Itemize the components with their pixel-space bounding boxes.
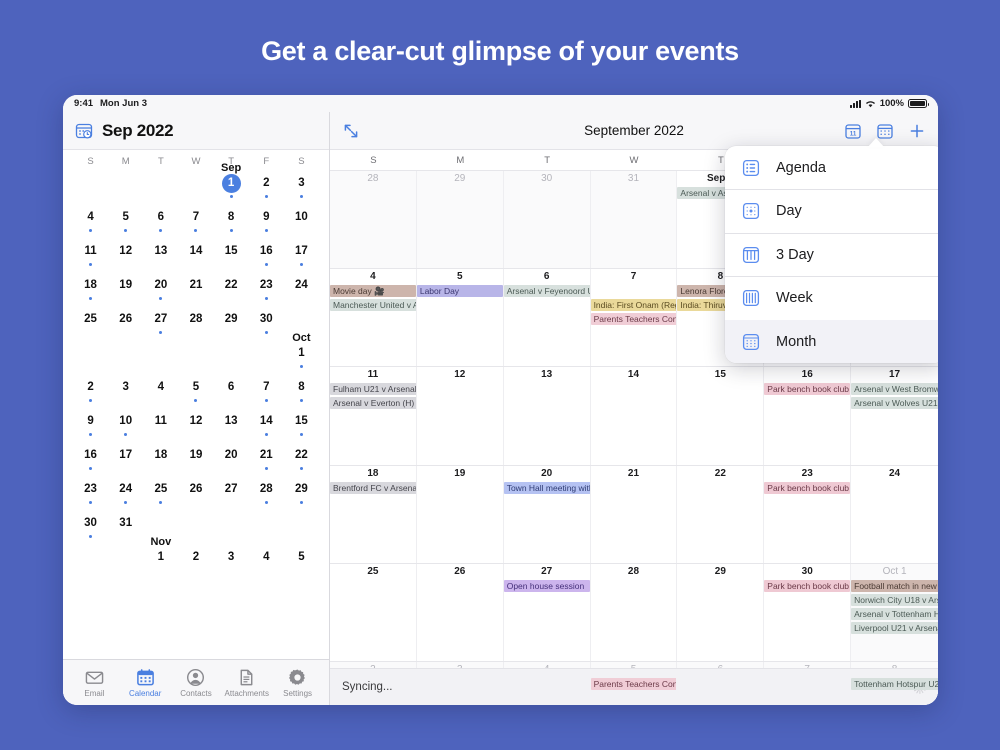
calendar-event[interactable]: Open house session — [504, 580, 590, 592]
mini-cal-day-23[interactable]: 23 — [249, 275, 284, 309]
dropdown-item-label: 3 Day — [776, 247, 814, 263]
tab-label: Attachments — [225, 689, 269, 698]
mini-cal-day-number: 30 — [81, 514, 100, 533]
month-day-cell-24[interactable]: 24 — [851, 466, 938, 563]
mini-cal-day-number: 4 — [151, 378, 170, 397]
mini-cal-day-26[interactable]: 26 — [108, 309, 143, 343]
mini-cal-day-number: 25 — [151, 480, 170, 499]
mini-cal-day-11[interactable]: 11 — [143, 411, 178, 445]
event-spacer — [591, 285, 677, 297]
month-day-cell-19[interactable]: 19 — [417, 466, 504, 563]
mini-cal-day-27[interactable]: 27 — [214, 479, 249, 513]
month-day-cell-15[interactable]: 15 — [677, 367, 764, 464]
event-dot-icon — [265, 229, 268, 232]
mini-cal-day-28[interactable]: 28 — [178, 309, 213, 343]
mini-cal-day-number: 15 — [222, 242, 241, 261]
mini-cal-empty-cell — [108, 173, 143, 207]
event-dot-icon — [230, 229, 233, 232]
month-dow-2: T — [504, 155, 591, 166]
month-week-row: 18Brentford FC v Arsenal (A)1920Town Hal… — [330, 465, 938, 563]
mini-cal-day-number: 12 — [116, 242, 135, 261]
envelope-icon — [85, 668, 104, 687]
month-day-cell-30[interactable]: 30 — [504, 171, 591, 268]
mini-cal-day-21[interactable]: 21 — [249, 445, 284, 479]
mini-cal-day-3[interactable]: 3 — [108, 377, 143, 411]
month-day-cell-11[interactable]: 11Fulham U21 v Arsenal U21 (A)Arsenal v … — [330, 367, 417, 464]
month-day-number: 29 — [677, 566, 763, 578]
day-view-icon — [742, 202, 760, 220]
month-day-cell-21[interactable]: 21 — [591, 466, 678, 563]
week-view-icon — [742, 289, 760, 307]
mini-cal-empty-cell — [214, 343, 249, 377]
mini-dow-3: W — [178, 156, 213, 167]
mini-cal-day-number: 5 — [116, 208, 135, 227]
month-day-number: 7 — [591, 271, 677, 283]
month-day-number: 27 — [504, 566, 590, 578]
month-day-number: Oct 1 — [851, 566, 938, 578]
tablet-device-frame: 9:41 Mon Jun 3 100% — [63, 95, 938, 705]
mini-cal-day-29[interactable]: 29 — [214, 309, 249, 343]
mini-cal-day-13[interactable]: 13 — [143, 241, 178, 275]
mini-cal-day-number: 11 — [151, 412, 170, 431]
tab-calendar[interactable]: Calendar — [120, 668, 171, 698]
calendar-event[interactable]: Park bench book club — [764, 580, 850, 592]
dropdown-item-agenda[interactable]: Agenda — [725, 146, 938, 189]
event-dot-icon — [89, 399, 92, 402]
event-dot-icon — [300, 365, 303, 368]
mini-cal-day-3[interactable]: 3 — [214, 547, 249, 581]
mini-cal-empty-cell — [143, 343, 178, 377]
mini-cal-day-10[interactable]: 10 — [284, 207, 319, 241]
mini-cal-empty-cell — [73, 173, 108, 207]
calendar-event[interactable]: Arsenal v Tottenham Hotspur (H) — [851, 608, 938, 620]
mini-cal-day-11[interactable]: 11 — [73, 241, 108, 275]
mini-cal-day-14[interactable]: 14 — [249, 411, 284, 445]
mini-cal-day-27[interactable]: 27 — [143, 309, 178, 343]
mini-cal-empty-cell — [284, 513, 319, 547]
mini-cal-day-2[interactable]: 2 — [178, 547, 213, 581]
month-day-number: 23 — [764, 468, 850, 480]
event-dot-icon — [265, 467, 268, 470]
month-day-cell-27[interactable]: 27Open house session — [504, 564, 591, 661]
mini-cal-day-number: 20 — [222, 446, 241, 465]
mini-cal-day-number: 21 — [257, 446, 276, 465]
mini-cal-day-30[interactable]: 30 — [249, 309, 284, 343]
month-day-cell-26[interactable]: 26 — [417, 564, 504, 661]
tab-label: Calendar — [129, 689, 161, 698]
mini-cal-day-24[interactable]: 24 — [108, 479, 143, 513]
tab-settings[interactable]: Settings — [272, 668, 323, 698]
mini-cal-day-17[interactable]: 17 — [108, 445, 143, 479]
month-view-icon — [742, 333, 760, 351]
month-day-cell-25[interactable]: 25 — [330, 564, 417, 661]
dropdown-item-label: Week — [776, 290, 813, 306]
sidebar: Sep 2022 SMTWTFS Sep12345678910111213141… — [63, 112, 330, 705]
month-day-cell-20[interactable]: 20Town Hall meeting with leadership — [504, 466, 591, 563]
event-dot-icon — [194, 399, 197, 402]
mini-cal-day-3[interactable]: 3 — [284, 173, 319, 207]
event-dot-icon — [300, 433, 303, 436]
battery-percent: 100% — [880, 98, 904, 109]
tab-contacts[interactable]: Contacts — [171, 668, 222, 698]
mini-cal-day-number: 22 — [222, 276, 241, 295]
mini-cal-day-number: 1 — [292, 344, 311, 363]
event-dot-icon — [89, 297, 92, 300]
three-day-view-icon — [742, 246, 760, 264]
calendar-event[interactable]: Tottenham Hotspur U21 v Arsenal U21 (A) — [851, 678, 938, 690]
mini-cal-day-number: 28 — [186, 310, 205, 329]
month-day-number: 28 — [330, 173, 416, 185]
mini-cal-empty-cell — [249, 343, 284, 377]
mini-cal-day-number: 8 — [292, 378, 311, 397]
month-week-row: 11Fulham U21 v Arsenal U21 (A)Arsenal v … — [330, 366, 938, 464]
mini-cal-day-number: 23 — [257, 276, 276, 295]
mini-dow-0: S — [73, 156, 108, 167]
calendar-event[interactable]: Manchester United v Arsenal (A) — [330, 299, 417, 311]
mini-cal-day-15[interactable]: 15 — [284, 411, 319, 445]
mini-calendar-dow-row: SMTWTFS — [73, 156, 319, 167]
calendar-event[interactable]: Movie day 🎥 — [330, 285, 416, 297]
mini-cal-day-1[interactable]: Oct1 — [284, 343, 319, 377]
mini-cal-day-25[interactable]: 25 — [73, 309, 108, 343]
main-toolbar: September 2022 11 — [330, 112, 938, 150]
mini-cal-day-19[interactable]: 19 — [178, 445, 213, 479]
month-day-number: 12 — [417, 369, 503, 381]
event-dot-icon — [124, 229, 127, 232]
dropdown-item-label: Month — [776, 334, 816, 350]
month-grid-icon[interactable] — [876, 122, 894, 140]
mini-cal-day-30[interactable]: 30 — [73, 513, 108, 547]
mini-dow-1: M — [108, 156, 143, 167]
mini-cal-day-number: 19 — [116, 276, 135, 295]
mini-cal-day-number: 3 — [116, 378, 135, 397]
dropdown-caret — [868, 138, 884, 147]
cellular-signal-icon — [850, 100, 861, 108]
main-panel: September 2022 11 — [330, 112, 938, 705]
mini-cal-day-18[interactable]: 18 — [73, 275, 108, 309]
mini-cal-day-22[interactable]: 22 — [284, 445, 319, 479]
mini-cal-day-number: 27 — [151, 310, 170, 329]
month-day-cell-29[interactable]: 29 — [417, 171, 504, 268]
mini-dow-6: S — [284, 156, 319, 167]
mini-cal-empty-cell — [73, 343, 108, 377]
mini-dow-5: F — [249, 156, 284, 167]
tab-label: Contacts — [180, 689, 212, 698]
mini-cal-day-number: 15 — [292, 412, 311, 431]
mini-cal-empty-cell — [108, 547, 143, 581]
mini-cal-day-24[interactable]: 24 — [284, 275, 319, 309]
month-day-number: 18 — [330, 468, 416, 480]
mini-cal-day-29[interactable]: 29 — [284, 479, 319, 513]
plus-icon[interactable] — [908, 122, 926, 140]
mini-cal-day-number: 5 — [186, 378, 205, 397]
calendar-event[interactable]: Parents Teachers Conference — [591, 678, 678, 690]
event-dot-icon — [159, 229, 162, 232]
mini-cal-month-label: Sep — [214, 162, 249, 174]
event-dot-icon — [265, 195, 268, 198]
mini-cal-day-5[interactable]: 5 — [108, 207, 143, 241]
month-day-cell-5[interactable]: 5Labor Day — [417, 269, 504, 366]
calendar-event[interactable]: Norwich City U18 v Arsenal U18 (A) — [851, 594, 938, 606]
month-day-cell-30[interactable]: 30Park bench book club — [764, 564, 851, 661]
month-day-number: 6 — [504, 271, 590, 283]
mini-cal-day-number: 10 — [292, 208, 311, 227]
svg-text:11: 11 — [850, 130, 857, 137]
mini-cal-day-5[interactable]: 5 — [178, 377, 213, 411]
month-day-cell-6[interactable]: 6Arsenal v Feyenoord U21 (H) — [504, 269, 591, 366]
mini-cal-day-16[interactable]: 16 — [249, 241, 284, 275]
event-dot-icon — [265, 297, 268, 300]
mini-cal-day-number: 17 — [116, 446, 135, 465]
calendar-event[interactable]: Football match in new stadium — [851, 580, 938, 592]
month-day-number: 4 — [330, 271, 416, 283]
mini-cal-day-number: 7 — [186, 208, 205, 227]
mini-cal-day-number: 23 — [81, 480, 100, 499]
mini-cal-day-9[interactable]: 9 — [249, 207, 284, 241]
calendar-event[interactable]: India: First Onam (Regional) — [591, 299, 678, 311]
mini-cal-day-number: 5 — [292, 548, 311, 567]
bottom-tab-bar: EmailCalendarContactsAttachmentsSettings — [63, 659, 329, 705]
event-dot-icon — [230, 195, 233, 198]
mini-cal-day-19[interactable]: 19 — [108, 275, 143, 309]
month-day-cell-28[interactable]: 28 — [591, 564, 678, 661]
calendar-event[interactable]: Arsenal v Feyenoord U21 (H) — [504, 285, 591, 297]
calendar-day-11-icon[interactable]: 11 — [844, 122, 862, 140]
month-day-cell-23[interactable]: 23Park bench book club — [764, 466, 851, 563]
month-day-number: 13 — [504, 369, 590, 381]
mini-cal-day-2[interactable]: 2 — [73, 377, 108, 411]
dropdown-item-month[interactable]: Month — [725, 320, 938, 363]
calendar-badge-icon[interactable] — [75, 122, 93, 140]
event-dot-icon — [159, 297, 162, 300]
mini-cal-day-1[interactable]: Nov1 — [143, 547, 178, 581]
mini-cal-day-number: 6 — [151, 208, 170, 227]
mini-cal-day-4[interactable]: 4 — [73, 207, 108, 241]
month-day-number: 16 — [764, 369, 850, 381]
mini-cal-day-10[interactable]: 10 — [108, 411, 143, 445]
tab-email[interactable]: Email — [69, 668, 120, 698]
mini-cal-empty-cell — [108, 343, 143, 377]
calendar-event[interactable]: Town Hall meeting with leadership — [504, 482, 591, 494]
mini-cal-day-4[interactable]: 4 — [249, 547, 284, 581]
mini-cal-day-2[interactable]: 2 — [249, 173, 284, 207]
calendar-event[interactable]: Labor Day — [417, 285, 503, 297]
month-day-cell-13[interactable]: 13 — [504, 367, 591, 464]
mini-cal-day-21[interactable]: 21 — [178, 275, 213, 309]
mini-cal-day-4[interactable]: 4 — [143, 377, 178, 411]
calendar-event[interactable]: Arsenal v West Bromwich Albion U18 (H) — [851, 383, 938, 395]
month-day-cell-17[interactable]: 17Arsenal v West Bromwich Albion U18 (H)… — [851, 367, 938, 464]
month-day-cell-18[interactable]: 18Brentford FC v Arsenal (A) — [330, 466, 417, 563]
mini-cal-day-8[interactable]: 8 — [284, 377, 319, 411]
calendar-event[interactable]: Arsenal v Wolves U21 (H) — [851, 397, 938, 409]
month-day-cell-29[interactable]: 29 — [677, 564, 764, 661]
calendar-icon — [136, 668, 155, 687]
mini-cal-day-22[interactable]: 22 — [214, 275, 249, 309]
mini-cal-day-number: 21 — [186, 276, 205, 295]
mini-cal-day-number: 1 — [151, 548, 170, 567]
mini-cal-day-8[interactable]: 8 — [214, 207, 249, 241]
mini-cal-day-16[interactable]: 16 — [73, 445, 108, 479]
month-day-cell-4[interactable]: 4Movie day 🎥Manchester United v Arsenal … — [330, 269, 417, 366]
mini-cal-day-number: 9 — [257, 208, 276, 227]
mini-cal-day-23[interactable]: 23 — [73, 479, 108, 513]
event-dot-icon — [89, 263, 92, 266]
mini-cal-day-12[interactable]: 12 — [108, 241, 143, 275]
mini-cal-day-7[interactable]: 7 — [178, 207, 213, 241]
mini-cal-day-7[interactable]: 7 — [249, 377, 284, 411]
battery-icon — [908, 99, 927, 108]
mini-cal-day-17[interactable]: 17 — [284, 241, 319, 275]
event-dot-icon — [300, 501, 303, 504]
event-dot-icon — [89, 467, 92, 470]
mini-calendar: SMTWTFS Sep12345678910111213141516171819… — [63, 150, 329, 659]
mini-cal-day-25[interactable]: 25 — [143, 479, 178, 513]
month-day-cell-28[interactable]: 28 — [330, 171, 417, 268]
dropdown-item-label: Day — [776, 203, 802, 219]
status-time: 9:41 — [74, 98, 93, 109]
calendar-event[interactable]: Arsenal v Everton (H) — [330, 397, 417, 409]
mini-cal-day-number: 4 — [257, 548, 276, 567]
mini-dow-2: T — [143, 156, 178, 167]
event-dot-icon — [159, 501, 162, 504]
mini-cal-day-15[interactable]: 15 — [214, 241, 249, 275]
mini-cal-day-number: 10 — [116, 412, 135, 431]
mini-cal-day-number: 9 — [81, 412, 100, 431]
mini-cal-day-number: 29 — [222, 310, 241, 329]
month-day-cell-31[interactable]: 31 — [591, 171, 678, 268]
agenda-list-icon — [742, 159, 760, 177]
mini-cal-day-number: 7 — [257, 378, 276, 397]
mini-cal-day-9[interactable]: 9 — [73, 411, 108, 445]
calendar-event[interactable]: Park bench book club — [764, 383, 850, 395]
month-day-number: 30 — [764, 566, 850, 578]
month-day-number: 11 — [330, 369, 416, 381]
event-dot-icon — [89, 501, 92, 504]
sync-status-text: Syncing... — [342, 681, 393, 693]
month-dow-0: S — [330, 155, 417, 166]
collapse-arrows-icon[interactable] — [342, 122, 360, 140]
tab-attachments[interactable]: Attachments — [221, 668, 272, 698]
mini-cal-day-31[interactable]: 31 — [108, 513, 143, 547]
mini-cal-day-number: 25 — [81, 310, 100, 329]
month-day-number: 20 — [504, 468, 590, 480]
event-dot-icon — [265, 433, 268, 436]
mini-cal-month-label: Nov — [143, 536, 178, 548]
calendar-event[interactable]: Fulham U21 v Arsenal U21 (A) — [330, 383, 417, 395]
mini-cal-day-number: 28 — [257, 480, 276, 499]
dropdown-item-day[interactable]: Day — [725, 190, 938, 233]
event-dot-icon — [300, 399, 303, 402]
mini-cal-empty-cell — [178, 513, 213, 547]
month-day-number: 24 — [851, 468, 938, 480]
mini-cal-day-number: 16 — [81, 446, 100, 465]
month-day-cell-7[interactable]: 7India: First Onam (Regional)Parents Tea… — [591, 269, 678, 366]
mini-cal-day-number: 1 — [222, 174, 241, 193]
mini-cal-day-number: 13 — [222, 412, 241, 431]
month-day-number: 5 — [417, 271, 503, 283]
tab-label: Settings — [283, 689, 312, 698]
mini-cal-empty-cell — [178, 173, 213, 207]
mini-cal-day-number: 26 — [186, 480, 205, 499]
mini-cal-day-28[interactable]: 28 — [249, 479, 284, 513]
month-day-number: 28 — [591, 566, 677, 578]
view-mode-dropdown: AgendaDay3 DayWeekMonth — [725, 146, 938, 363]
month-dow-1: M — [417, 155, 504, 166]
event-dot-icon — [194, 229, 197, 232]
mini-cal-day-1[interactable]: Sep1 — [214, 173, 249, 207]
mini-cal-day-number: 3 — [222, 548, 241, 567]
mini-cal-day-26[interactable]: 26 — [178, 479, 213, 513]
event-dot-icon — [124, 433, 127, 436]
month-week-row: 252627Open house session282930Park bench… — [330, 563, 938, 661]
mini-cal-day-6[interactable]: 6 — [143, 207, 178, 241]
sidebar-header: Sep 2022 — [63, 112, 329, 150]
mini-cal-day-number: 14 — [186, 242, 205, 261]
month-day-number: 21 — [591, 468, 677, 480]
tab-label: Email — [84, 689, 104, 698]
mini-cal-day-number: 18 — [81, 276, 100, 295]
dropdown-item-label: Agenda — [776, 160, 826, 176]
mini-cal-day-14[interactable]: 14 — [178, 241, 213, 275]
mini-cal-day-number: 8 — [222, 208, 241, 227]
month-day-number: 17 — [851, 369, 938, 381]
calendar-event[interactable]: Liverpool U21 v Arsenal U21 (A) — [851, 622, 938, 634]
mini-cal-day-number: 2 — [81, 378, 100, 397]
month-day-number: 30 — [504, 173, 590, 185]
mini-cal-day-number: 14 — [257, 412, 276, 431]
month-day-cell-12[interactable]: 12 — [417, 367, 504, 464]
wifi-icon — [865, 100, 876, 108]
mini-cal-day-number: 29 — [292, 480, 311, 499]
mini-cal-day-number: 22 — [292, 446, 311, 465]
mini-calendar-grid: Sep1234567891011121314151617181920212223… — [73, 173, 319, 581]
month-day-number: 22 — [677, 468, 763, 480]
mini-cal-day-13[interactable]: 13 — [214, 411, 249, 445]
status-date: Mon Jun 3 — [100, 98, 147, 109]
status-bar: 9:41 Mon Jun 3 100% — [63, 95, 938, 112]
gear-icon — [288, 668, 307, 687]
month-day-number: 25 — [330, 566, 416, 578]
mini-cal-day-number: 12 — [186, 412, 205, 431]
mini-cal-day-number: 13 — [151, 242, 170, 261]
month-day-cell-22[interactable]: 22 — [677, 466, 764, 563]
mini-cal-day-number: 20 — [151, 276, 170, 295]
mini-cal-day-number: 4 — [81, 208, 100, 227]
mini-cal-empty-cell — [214, 513, 249, 547]
page-headline: Get a clear-cut glimpse of your events — [0, 36, 1000, 67]
mini-cal-day-number: 19 — [186, 446, 205, 465]
mini-cal-day-number: 17 — [292, 242, 311, 261]
dropdown-item-3-day[interactable]: 3 Day — [725, 233, 938, 276]
calendar-event[interactable]: Brentford FC v Arsenal (A) — [330, 482, 417, 494]
mini-cal-day-6[interactable]: 6 — [214, 377, 249, 411]
document-icon — [237, 668, 256, 687]
mini-cal-day-5[interactable]: 5 — [284, 547, 319, 581]
mini-cal-day-20[interactable]: 20 — [143, 275, 178, 309]
event-dot-icon — [265, 399, 268, 402]
mini-cal-day-number: 11 — [81, 242, 100, 261]
month-day-cell-14[interactable]: 14 — [591, 367, 678, 464]
calendar-event[interactable]: Park bench book club — [764, 482, 850, 494]
mini-cal-day-18[interactable]: 18 — [143, 445, 178, 479]
mini-cal-day-12[interactable]: 12 — [178, 411, 213, 445]
month-day-cell-16[interactable]: 16Park bench book club — [764, 367, 851, 464]
calendar-event[interactable]: Parents Teachers Conference — [591, 313, 678, 325]
month-day-cell-Oct-1[interactable]: Oct 1Football match in new stadiumNorwic… — [851, 564, 938, 661]
mini-cal-day-20[interactable]: 20 — [214, 445, 249, 479]
dropdown-item-week[interactable]: Week — [725, 277, 938, 320]
